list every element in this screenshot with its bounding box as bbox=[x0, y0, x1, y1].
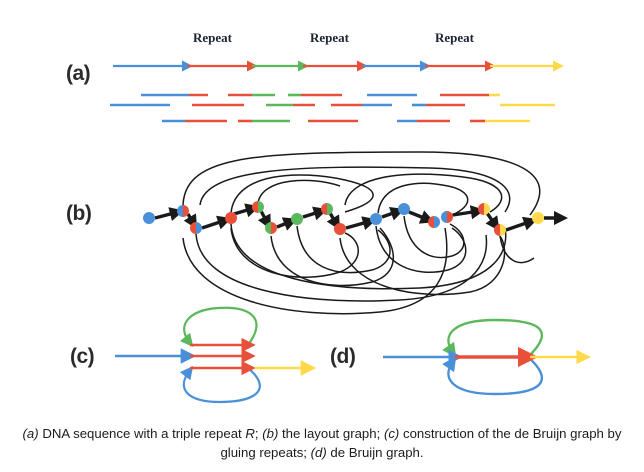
layout-edge-long bbox=[183, 228, 447, 314]
caption-ref-b: (b) bbox=[262, 426, 278, 441]
layout-edge-long bbox=[258, 180, 340, 203]
layout-node bbox=[334, 223, 346, 235]
layout-edge bbox=[277, 221, 292, 227]
layout-node bbox=[143, 212, 155, 224]
layout-node bbox=[190, 222, 202, 234]
panel-d-graph bbox=[383, 320, 585, 394]
figure-caption: (a) DNA sequence with a triple repeat R;… bbox=[18, 424, 626, 462]
layout-node bbox=[225, 212, 237, 224]
caption-ref-d: (d) bbox=[311, 445, 327, 460]
layout-node bbox=[252, 201, 264, 213]
layout-node bbox=[265, 222, 277, 234]
caption-ref-c: (c) bbox=[384, 426, 399, 441]
caption-text-a: DNA sequence with a triple repeat bbox=[39, 426, 246, 441]
blue-self-loop bbox=[448, 357, 541, 394]
panel-b-nodes bbox=[143, 201, 544, 236]
layout-node bbox=[321, 203, 333, 215]
layout-edge bbox=[346, 221, 371, 228]
layout-node bbox=[441, 211, 453, 223]
layout-node bbox=[494, 224, 506, 236]
layout-edge bbox=[506, 221, 532, 230]
layout-edge bbox=[155, 212, 178, 218]
layout-edge bbox=[487, 213, 496, 226]
green-repeat-loop bbox=[184, 308, 256, 345]
layout-edge-long bbox=[345, 174, 502, 212]
caption-ref-a: (a) bbox=[23, 426, 39, 441]
figure-svg-layer bbox=[0, 0, 644, 472]
blue-repeat-loop bbox=[184, 368, 260, 402]
layout-edge bbox=[234, 208, 254, 214]
layout-node bbox=[370, 213, 382, 225]
layout-node bbox=[177, 205, 189, 217]
layout-edge-long bbox=[231, 228, 358, 277]
figure-container: (a) (b) (c) (d) Repeat Repeat Repeat bbox=[0, 0, 644, 472]
layout-edge bbox=[330, 213, 337, 225]
layout-node bbox=[398, 203, 410, 215]
layout-edge bbox=[188, 214, 194, 224]
layout-edge bbox=[453, 211, 479, 215]
layout-edge bbox=[382, 211, 399, 217]
layout-edge bbox=[409, 212, 429, 220]
caption-repeat-symbol: R bbox=[245, 426, 255, 441]
layout-edge bbox=[261, 211, 268, 224]
layout-node bbox=[291, 213, 303, 225]
layout-node bbox=[478, 203, 490, 215]
caption-text-d: de Bruijn graph. bbox=[327, 445, 424, 460]
layout-edge bbox=[303, 211, 322, 217]
layout-edge-long bbox=[378, 183, 468, 215]
green-self-loop bbox=[448, 320, 541, 357]
layout-node bbox=[532, 212, 544, 224]
caption-text-b: the layout graph; bbox=[278, 426, 384, 441]
panel-b-long-edges bbox=[183, 152, 540, 314]
layout-node bbox=[428, 216, 440, 228]
panel-c-graph bbox=[115, 308, 310, 402]
layout-edge bbox=[202, 220, 226, 228]
